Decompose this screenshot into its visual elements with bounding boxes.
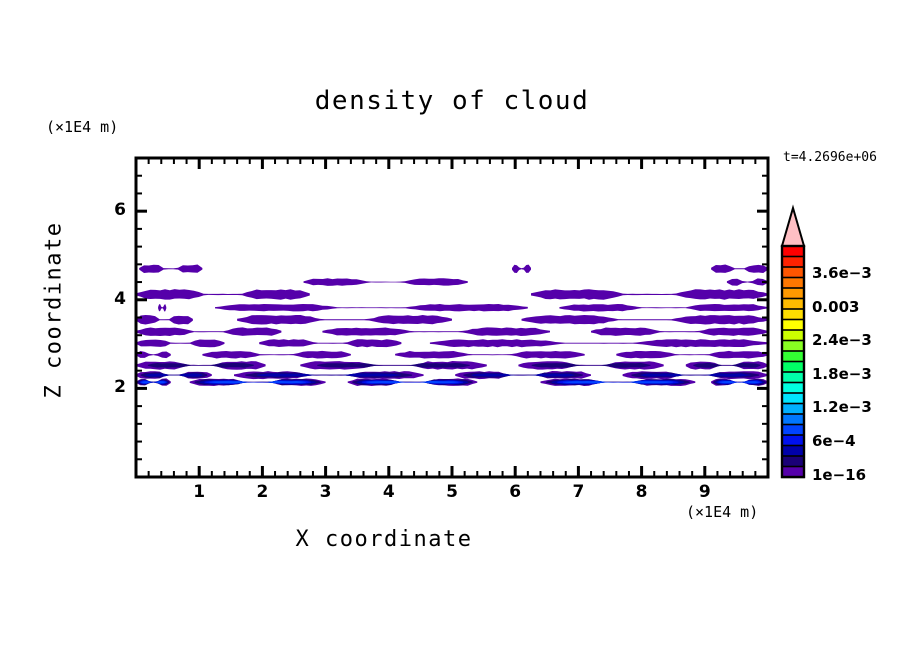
colorbar-segment — [782, 362, 804, 373]
colorbar-segment — [782, 257, 804, 268]
colorbar-tick-label: 1.2e−3 — [812, 398, 872, 416]
colorbar-tick-label: 1e−16 — [812, 466, 866, 484]
colorbar-segment — [782, 341, 804, 352]
colorbar-segment — [782, 404, 804, 415]
colorbar-segment — [782, 372, 804, 383]
colorbar-segment — [782, 330, 804, 341]
colorbar-segment — [782, 320, 804, 331]
x-tick-label: 8 — [627, 482, 657, 502]
colorbar-tick-label: 1.8e−3 — [812, 365, 872, 383]
colorbar-segment — [782, 246, 804, 257]
x-tick-label: 3 — [311, 482, 341, 502]
y-tick-label: 4 — [96, 289, 126, 309]
x-tick-label: 1 — [184, 482, 214, 502]
y-tick-label: 2 — [96, 377, 126, 397]
colorbar-tick-label: 0.003 — [812, 298, 859, 316]
colorbar-segment — [782, 393, 804, 404]
x-tick-label: 4 — [374, 482, 404, 502]
x-tick-label: 2 — [247, 482, 277, 502]
colorbar-segment — [782, 383, 804, 394]
colorbar-segment — [782, 288, 804, 299]
colorbar-segment — [782, 425, 804, 436]
colorbar-overflow-arrow — [782, 208, 804, 246]
colorbar-segment — [782, 309, 804, 320]
contour-plot — [0, 0, 904, 654]
colorbar-segment — [782, 414, 804, 425]
plot-background — [136, 158, 768, 477]
colorbar-tick-label: 3.6e−3 — [812, 264, 872, 282]
y-tick-label: 6 — [96, 200, 126, 220]
colorbar-tick-label: 2.4e−3 — [812, 331, 872, 349]
colorbar-segment — [782, 446, 804, 457]
colorbar — [782, 208, 804, 477]
x-tick-label: 5 — [437, 482, 467, 502]
figure-canvas: density of cloud (×1E4 m) (×1E4 m) t=4.2… — [0, 0, 904, 654]
colorbar-segment — [782, 467, 804, 478]
x-tick-label: 7 — [563, 482, 593, 502]
colorbar-segment — [782, 278, 804, 289]
colorbar-tick-label: 6e−4 — [812, 432, 856, 450]
colorbar-segment — [782, 299, 804, 310]
colorbar-segment — [782, 435, 804, 446]
colorbar-segment — [782, 456, 804, 467]
colorbar-segment — [782, 351, 804, 362]
colorbar-segment — [782, 267, 804, 278]
x-tick-label: 6 — [500, 482, 530, 502]
x-tick-label: 9 — [690, 482, 720, 502]
